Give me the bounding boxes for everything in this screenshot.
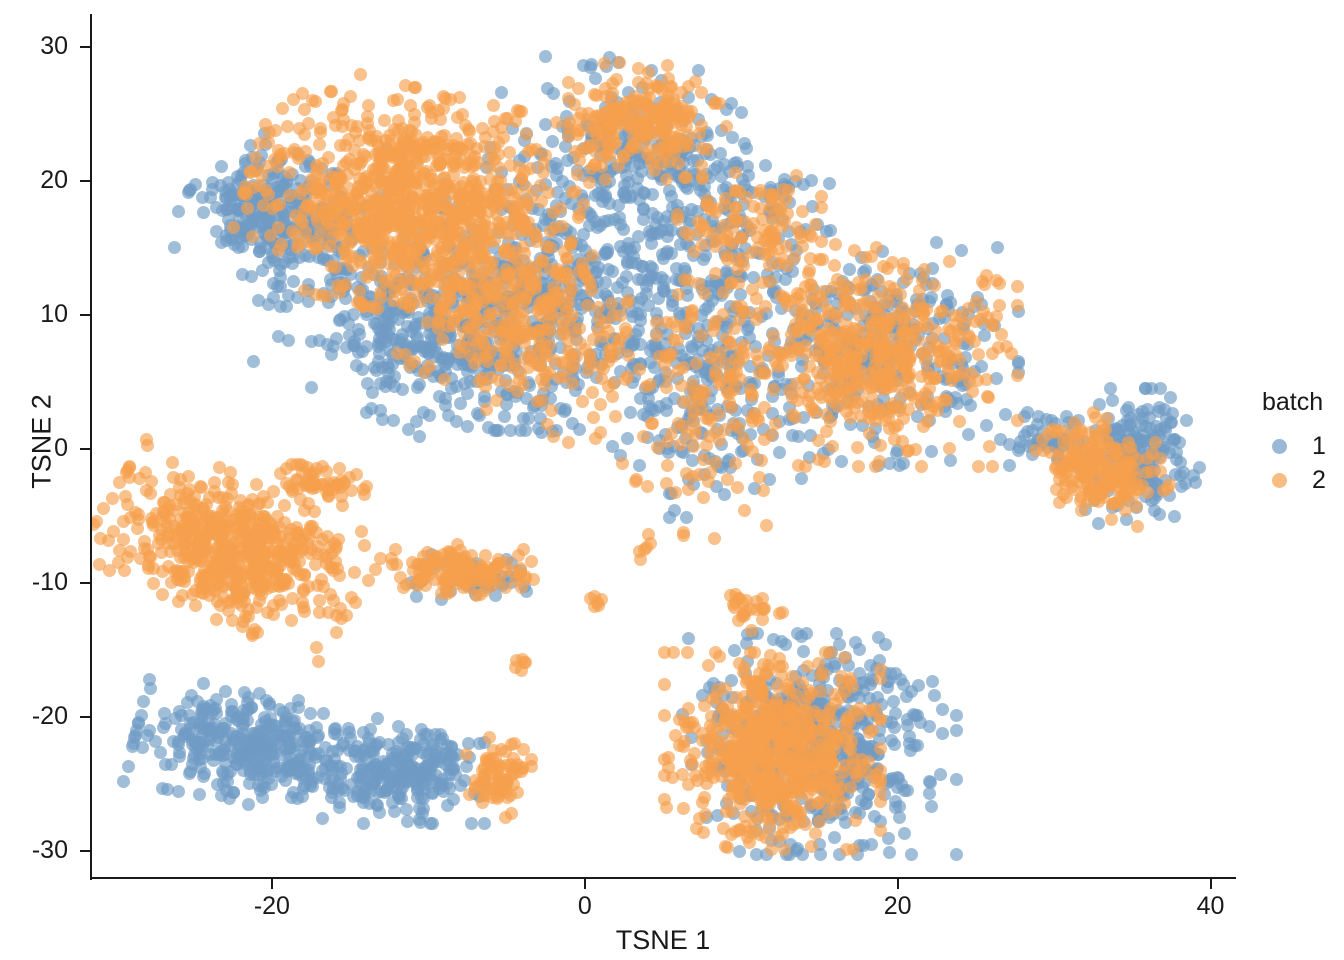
- scatter-point: [196, 703, 209, 716]
- scatter-point: [241, 202, 254, 215]
- scatter-point: [1165, 416, 1178, 429]
- scatter-point: [504, 424, 517, 437]
- scatter-point: [924, 776, 937, 789]
- scatter-point: [136, 741, 149, 754]
- scatter-point: [624, 406, 637, 419]
- scatter-point: [889, 667, 902, 680]
- scatter-point: [603, 343, 616, 356]
- scatter-point: [338, 218, 351, 231]
- scatter-point: [168, 241, 181, 254]
- scatter-point: [342, 722, 355, 735]
- scatter-point: [962, 428, 975, 441]
- scatter-point: [408, 116, 421, 129]
- scatter-point: [830, 627, 843, 640]
- scatter-point: [267, 291, 280, 304]
- scatter-point: [258, 711, 271, 724]
- scatter-point: [1177, 466, 1190, 479]
- scatter-point: [601, 246, 614, 259]
- scatter-point: [304, 734, 317, 747]
- scatter-point: [216, 722, 229, 735]
- scatter-point: [529, 282, 542, 295]
- scatter-point: [991, 241, 1004, 254]
- scatter-point: [364, 199, 377, 212]
- scatter-point: [805, 174, 818, 187]
- scatter-point: [453, 141, 466, 154]
- scatter-point: [625, 256, 638, 269]
- scatter-point: [1003, 459, 1016, 472]
- scatter-point: [401, 815, 414, 828]
- scatter-point: [233, 740, 246, 753]
- scatter-point: [653, 143, 666, 156]
- scatter-point: [680, 511, 693, 524]
- scatter-point: [430, 250, 443, 263]
- scatter-point: [232, 241, 245, 254]
- scatter-point: [324, 85, 337, 98]
- scatter-point: [357, 817, 370, 830]
- scatter-point: [480, 403, 493, 416]
- scatter-point: [472, 351, 485, 364]
- scatter-point: [594, 398, 607, 411]
- scatter-point: [479, 380, 492, 393]
- scatter-point: [245, 270, 258, 283]
- scatter-point: [466, 175, 479, 188]
- scatter-point: [388, 805, 401, 818]
- scatter-point: [617, 187, 630, 200]
- scatter-point: [381, 316, 394, 329]
- scatter-point: [157, 721, 170, 734]
- scatter-point: [184, 765, 197, 778]
- scatter-point: [563, 314, 576, 327]
- scatter-point: [1180, 414, 1193, 427]
- scatter-point: [309, 288, 322, 301]
- scatter-point: [648, 164, 661, 177]
- scatter-point: [1164, 391, 1177, 404]
- scatter-point: [1104, 382, 1117, 395]
- scatter-point: [258, 781, 271, 794]
- scatter-point: [279, 718, 292, 731]
- scatter-point: [675, 118, 688, 131]
- scatter-point: [215, 160, 228, 173]
- scatter-point: [950, 724, 963, 737]
- scatter-point: [373, 214, 386, 227]
- scatter-point: [872, 631, 885, 644]
- scatter-point: [592, 187, 605, 200]
- scatter-point: [546, 135, 559, 148]
- scatter-point: [897, 678, 910, 691]
- scatter-point: [936, 727, 949, 740]
- scatter-point: [310, 721, 323, 734]
- scatter-point: [319, 741, 332, 754]
- scatter-point: [491, 183, 504, 196]
- scatter-point: [656, 248, 669, 261]
- scatter-point: [495, 86, 508, 99]
- scatter-point: [1092, 517, 1105, 530]
- scatter-point: [503, 293, 516, 306]
- scatter-point: [222, 176, 235, 189]
- scatter-point: [362, 267, 375, 280]
- scatter-point: [143, 673, 156, 686]
- scatter-point: [227, 221, 240, 234]
- scatter-point: [951, 397, 964, 410]
- scatter-point: [361, 110, 374, 123]
- scatter-point: [244, 768, 257, 781]
- scatter-point: [539, 50, 552, 63]
- scatter-point: [404, 299, 417, 312]
- scatter-point: [451, 111, 464, 124]
- scatter-point: [267, 277, 280, 290]
- scatter-point: [419, 219, 432, 232]
- scatter-point: [436, 333, 449, 346]
- scatter-point: [387, 246, 400, 259]
- scatter-point: [554, 202, 567, 215]
- scatter-point: [117, 775, 130, 788]
- scatter-point: [508, 211, 521, 224]
- scatter-point: [490, 279, 503, 292]
- scatter-point: [427, 178, 440, 191]
- scatter-point: [388, 380, 401, 393]
- scatter-point: [289, 738, 302, 751]
- scatter-point: [193, 788, 206, 801]
- scatter-point: [735, 106, 748, 119]
- scatter-point: [843, 263, 856, 276]
- scatter-point: [609, 410, 622, 423]
- scatter-point: [419, 760, 432, 773]
- scatter-point: [349, 750, 362, 763]
- scatter-point: [518, 195, 531, 208]
- scatter-point: [448, 274, 461, 287]
- scatter-point: [404, 763, 417, 776]
- scatter-point: [926, 675, 939, 688]
- scatter-point: [606, 440, 619, 453]
- scatter-point: [554, 266, 567, 279]
- scatter-point: [417, 738, 430, 751]
- scatter-point: [122, 760, 135, 773]
- scatter-point: [346, 260, 359, 273]
- scatter-point: [342, 317, 355, 330]
- scatter-point: [421, 316, 434, 329]
- scatter-point: [404, 99, 417, 112]
- scatter-point: [281, 120, 294, 133]
- scatter-point: [274, 151, 287, 164]
- scatter-point: [329, 177, 342, 190]
- scatter-point: [980, 419, 993, 432]
- scatter-point: [718, 488, 731, 501]
- scatter-point: [402, 218, 415, 231]
- scatter-point: [396, 781, 409, 794]
- scatter-point: [547, 430, 560, 443]
- scatter-point: [835, 455, 848, 468]
- scatter-point: [442, 259, 455, 272]
- scatter-point: [197, 206, 210, 219]
- scatter-point: [509, 227, 522, 240]
- scatter-point: [276, 102, 289, 115]
- scatter-point: [246, 230, 259, 243]
- scatter-point: [632, 324, 645, 337]
- scatter-point: [411, 381, 424, 394]
- scatter-point: [592, 301, 605, 314]
- scatter-point: [944, 454, 957, 467]
- scatter-point: [642, 299, 655, 312]
- scatter-point: [930, 236, 943, 249]
- scatter-point: [301, 198, 314, 211]
- scatter-point: [287, 93, 300, 106]
- scatter-point: [461, 420, 474, 433]
- scatter-point: [950, 709, 963, 722]
- scatter-point: [302, 117, 315, 130]
- scatter-point: [905, 848, 918, 861]
- scatter-point: [172, 205, 185, 218]
- scatter-point: [289, 209, 302, 222]
- scatter-point: [305, 381, 318, 394]
- scatter-point: [173, 750, 186, 763]
- scatter-point: [225, 698, 238, 711]
- scatter-point: [828, 831, 841, 844]
- scatter-point: [304, 707, 317, 720]
- scatter-point: [418, 263, 431, 276]
- scatter-point: [904, 744, 917, 757]
- scatter-point: [298, 128, 311, 141]
- scatter-point: [887, 695, 900, 708]
- scatter-point: [791, 627, 804, 640]
- scatter-point: [388, 207, 401, 220]
- scatter-point: [283, 189, 296, 202]
- scatter-point: [515, 172, 528, 185]
- scatter-point: [925, 291, 938, 304]
- tsne-scatter-plot: 3020100-10-20-30 -2002040 TSNE 1 TSNE 2 …: [0, 0, 1344, 960]
- scatter-point: [501, 112, 514, 125]
- scatter-point: [417, 136, 430, 149]
- scatter-point: [537, 166, 550, 179]
- scatter-point: [197, 677, 210, 690]
- scatter-point: [1154, 423, 1167, 436]
- scatter-point: [447, 793, 460, 806]
- scatter-point: [505, 183, 518, 196]
- scatter-point: [562, 436, 575, 449]
- scatter-point: [455, 180, 468, 193]
- scatter-point: [587, 411, 600, 424]
- scatter-point: [478, 214, 491, 227]
- scatter-point: [492, 424, 505, 437]
- scatter-point: [494, 359, 507, 372]
- scatter-point: [391, 93, 404, 106]
- scatter-point: [296, 790, 309, 803]
- scatter-point: [582, 364, 595, 377]
- scatter-point: [260, 735, 273, 748]
- scatter-point: [423, 409, 436, 422]
- scatter-point: [695, 86, 708, 99]
- scatter-point: [503, 146, 516, 159]
- scatter-point: [421, 101, 434, 114]
- scatter-point: [434, 113, 447, 126]
- scatter-point: [759, 159, 772, 172]
- scatter-point: [566, 377, 579, 390]
- scatter-point: [242, 798, 255, 811]
- scatter-point: [566, 186, 579, 199]
- scatter-point: [539, 347, 552, 360]
- scatter-point: [893, 800, 906, 813]
- scatter-point: [356, 791, 369, 804]
- scatter-point: [893, 811, 906, 824]
- scatter-point: [326, 223, 339, 236]
- scatter-point: [545, 404, 558, 417]
- scatter-point: [928, 689, 941, 702]
- scatter-point: [272, 330, 285, 343]
- scatter-point: [1153, 508, 1166, 521]
- scatter-point: [434, 158, 447, 171]
- scatter-point: [589, 432, 602, 445]
- scatter-point: [823, 177, 836, 190]
- scatter-point: [173, 705, 186, 718]
- scatter-point: [571, 128, 584, 141]
- scatter-point: [936, 703, 949, 716]
- scatter-point: [457, 305, 470, 318]
- scatter-point: [272, 761, 285, 774]
- scatter-point: [893, 459, 906, 472]
- scatter-point: [586, 386, 599, 399]
- scatter-point: [396, 233, 409, 246]
- scatter-point: [535, 195, 548, 208]
- scatter-point: [658, 285, 671, 298]
- scatter-point: [602, 355, 615, 368]
- scatter-point: [319, 205, 332, 218]
- scatter-point: [633, 459, 646, 472]
- scatter-point: [955, 244, 968, 257]
- scatter-point: [467, 322, 480, 335]
- scatter-point: [1120, 404, 1133, 417]
- scatter-point: [775, 635, 788, 648]
- scatter-point: [333, 286, 346, 299]
- scatter-point: [595, 160, 608, 173]
- scatter-point: [585, 58, 598, 71]
- scatter-point: [287, 275, 300, 288]
- scatter-point: [413, 430, 426, 443]
- scatter-point: [314, 126, 327, 139]
- scatter-point: [241, 714, 254, 727]
- scatter-point: [356, 363, 369, 376]
- scatter-point: [441, 210, 454, 223]
- scatter-point: [317, 707, 330, 720]
- scatter-point: [536, 394, 549, 407]
- scatter-point: [309, 95, 322, 108]
- scatter-point: [434, 302, 447, 315]
- scatter-point: [391, 347, 404, 360]
- scatter-point: [950, 773, 963, 786]
- scatter-point: [454, 397, 467, 410]
- scatter-point: [520, 267, 533, 280]
- scatter-point: [544, 241, 557, 254]
- scatter-point: [247, 752, 260, 765]
- scatter-point: [901, 784, 914, 797]
- scatter-point: [135, 709, 148, 722]
- scatter-point: [532, 330, 545, 343]
- scatter-point: [362, 732, 375, 745]
- scatter-point: [333, 796, 346, 809]
- scatter-point: [249, 151, 262, 164]
- scatter-point: [1193, 461, 1206, 474]
- scatter-point: [298, 284, 311, 297]
- scatter-point: [515, 105, 528, 118]
- scatter-point: [520, 128, 533, 141]
- scatter-point: [742, 169, 755, 182]
- scatter-point: [519, 424, 532, 437]
- scatter-point: [1168, 510, 1181, 523]
- scatter-point: [923, 720, 936, 733]
- scatter-point: [348, 163, 361, 176]
- scatter-point: [410, 415, 423, 428]
- scatter-point: [184, 183, 197, 196]
- scatter-point: [316, 812, 329, 825]
- scatter-point: [408, 355, 421, 368]
- scatter-point: [898, 827, 911, 840]
- scatter-point: [773, 446, 786, 459]
- scatter-point: [925, 800, 938, 813]
- scatter-point: [644, 260, 657, 273]
- scatter-point: [400, 196, 413, 209]
- scatter-point: [701, 143, 714, 156]
- scatter-point: [487, 99, 500, 112]
- scatter-point: [252, 294, 265, 307]
- scatter-point: [663, 511, 676, 524]
- scatter-point: [950, 848, 963, 861]
- scatter-point: [498, 410, 511, 423]
- scatter-point: [682, 632, 695, 645]
- scatter-point: [400, 728, 413, 741]
- scatter-point: [541, 418, 554, 431]
- scatter-point: [305, 335, 318, 348]
- scatter-point: [392, 184, 405, 197]
- scatter-point: [418, 366, 431, 379]
- scatter-point: [606, 390, 619, 403]
- scatter-point: [565, 348, 578, 361]
- scatter-point: [325, 348, 338, 361]
- scatter-point: [460, 210, 473, 223]
- scatter-point: [354, 68, 367, 81]
- scatter-point: [223, 792, 236, 805]
- scatter-point: [925, 445, 938, 458]
- scatter-point: [621, 432, 634, 445]
- scatter-point: [912, 679, 925, 692]
- scatter-point: [337, 737, 350, 750]
- scatter-point: [302, 763, 315, 776]
- scatter-point: [1106, 394, 1119, 407]
- scatter-point: [445, 762, 458, 775]
- scatter-point: [137, 695, 150, 708]
- scatter-point: [795, 472, 808, 485]
- scatter-point: [620, 270, 633, 283]
- scatter-point: [419, 341, 432, 354]
- scatter-point: [607, 309, 620, 322]
- scatter-point: [444, 93, 457, 106]
- scatter-point: [469, 300, 482, 313]
- scatter-point: [253, 687, 266, 700]
- scatter-point: [518, 247, 531, 260]
- scatter-point: [1139, 382, 1152, 395]
- scatter-point: [210, 693, 223, 706]
- scatter-point: [583, 348, 596, 361]
- scatter-point: [738, 137, 751, 150]
- scatter-point: [614, 218, 627, 231]
- scatter-point: [549, 221, 562, 234]
- scatter-point: [172, 785, 185, 798]
- scatter-point: [522, 145, 535, 158]
- scatter-point: [883, 846, 896, 859]
- scatter-point: [313, 138, 326, 151]
- scatter-point: [911, 709, 924, 722]
- scatter-point: [633, 363, 646, 376]
- scatter-point: [853, 643, 866, 656]
- scatter-point: [750, 848, 763, 861]
- scatter-point: [779, 273, 792, 286]
